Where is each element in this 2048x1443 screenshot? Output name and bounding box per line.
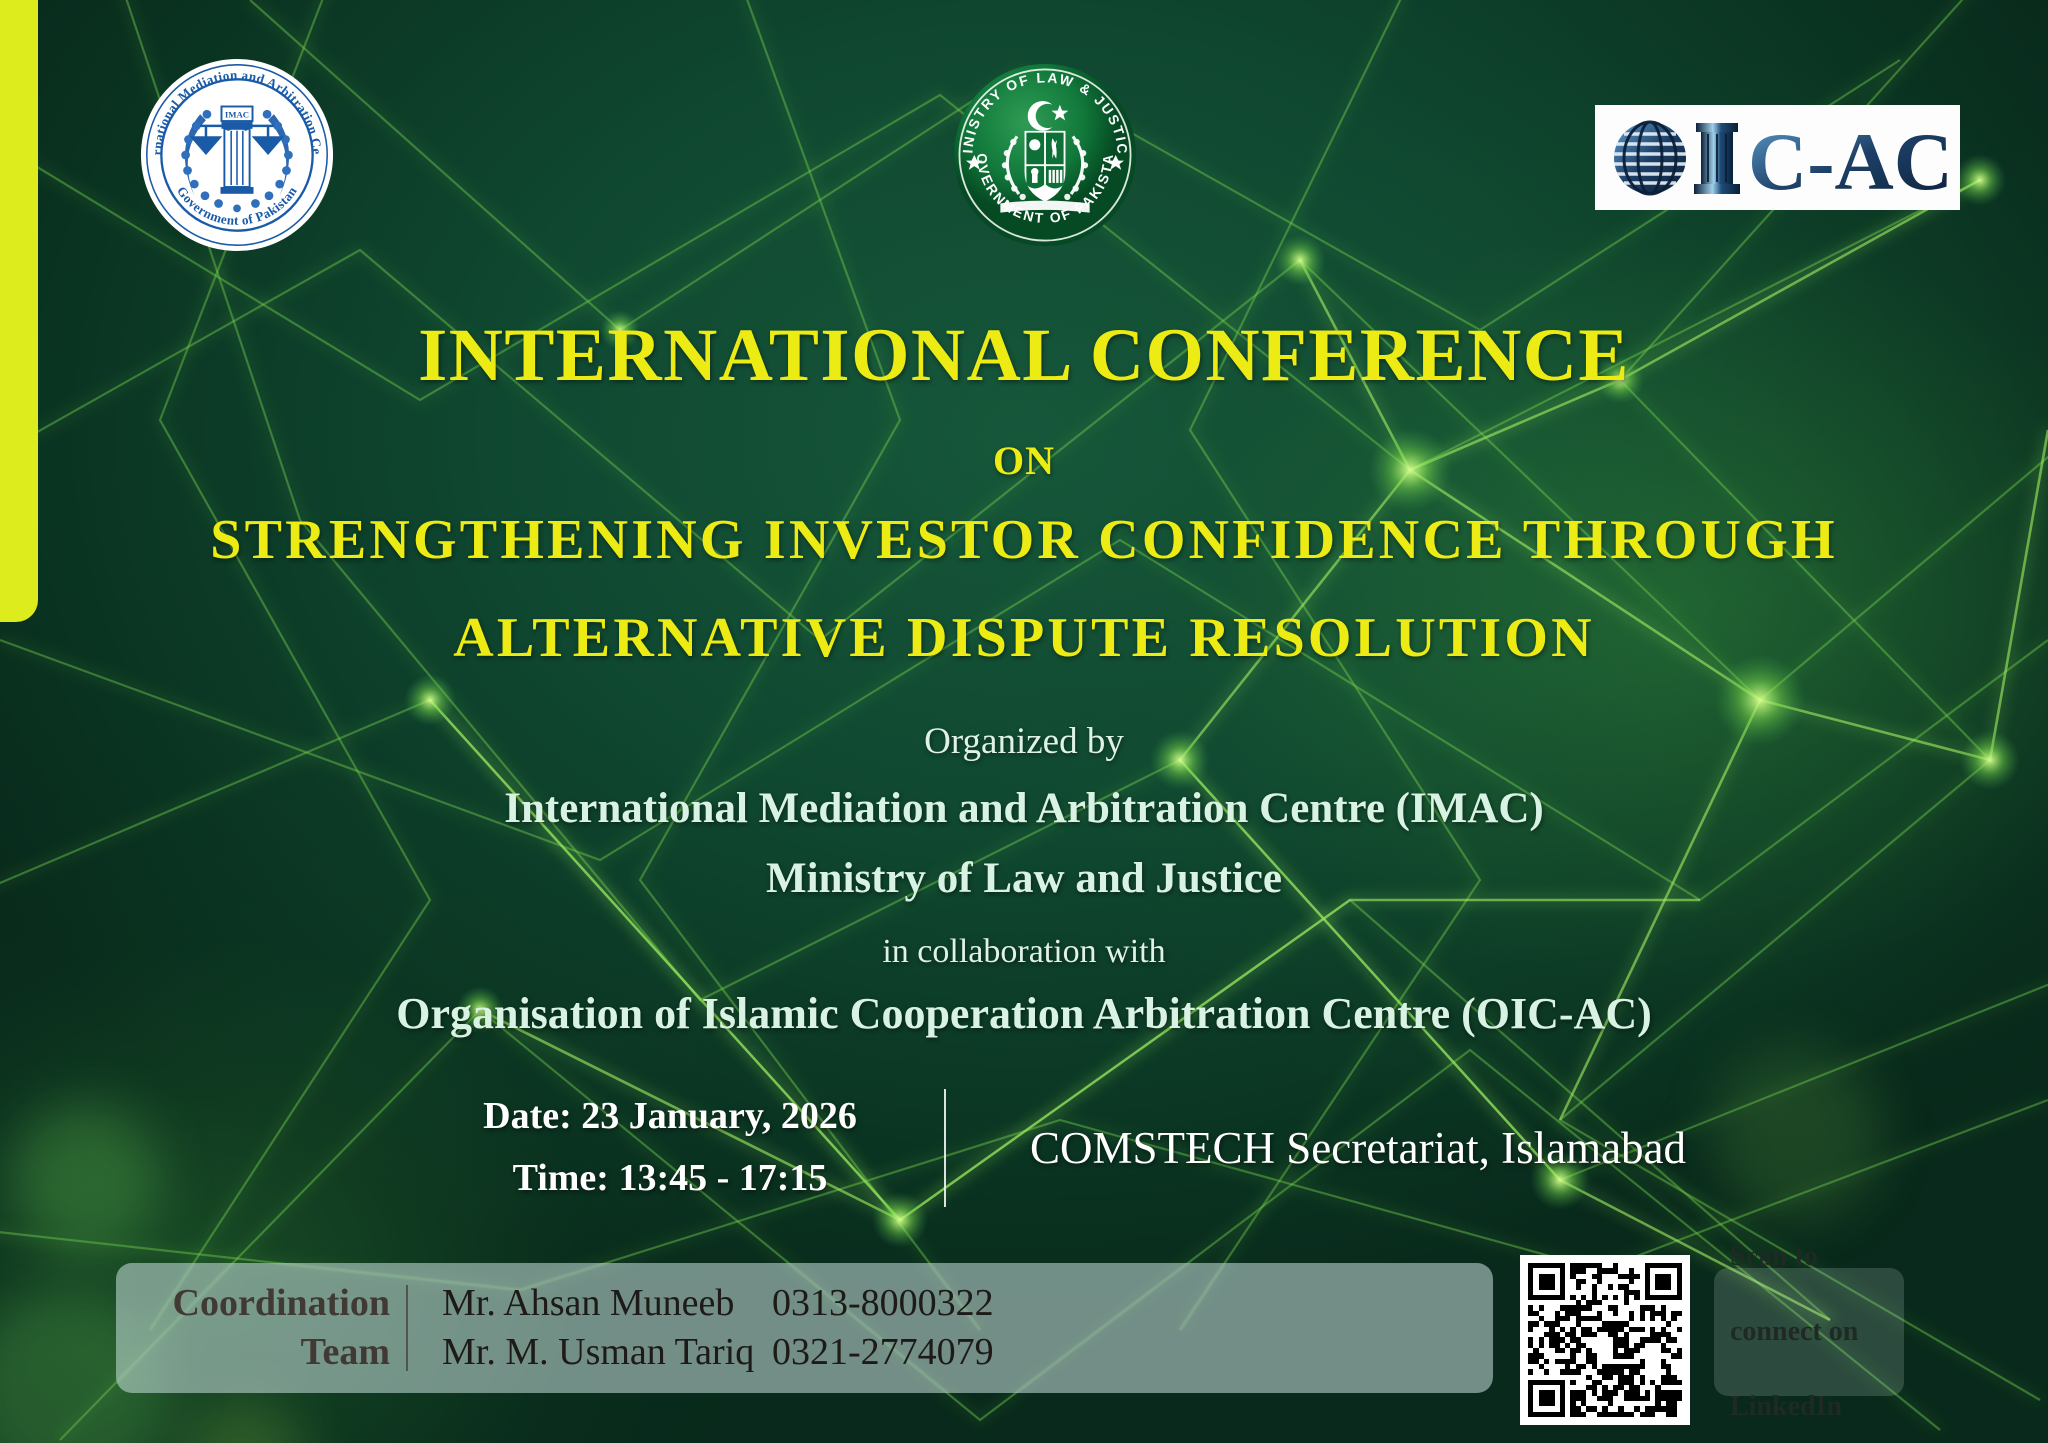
oic-ac-logo: C-AC [1595,105,1960,210]
event-details: Date: 23 January, 2026 Time: 13:45 - 17:… [420,1085,1770,1210]
event-venue: COMSTECH Secretariat, Islamabad [946,1122,1770,1174]
conference-subject-line-2: ALTERNATIVE DISPUTE RESOLUTION [0,610,2048,666]
qr-caption-panel: Scan to connect on LinkedIn [1714,1268,1904,1396]
conference-title: INTERNATIONAL CONFERENCE [0,318,2048,393]
organized-by-label: Organized by [0,723,2048,760]
event-time: Time: 13:45 - 17:15 [420,1148,920,1210]
qr-caption-line-2: connect on [1730,1313,1858,1351]
coordination-label-line-1: Coordination [116,1279,390,1328]
qr-caption-line-3: LinkedIn [1730,1388,1858,1426]
coordination-team-panel: Coordination Team Mr. Ahsan Muneeb 0313-… [116,1263,1493,1393]
collaboration-label: in collaboration with [0,935,2048,969]
contact-row: Mr. M. Usman Tariq 0321-2774079 [442,1328,994,1377]
contact-name: Mr. M. Usman Tariq [442,1328,772,1377]
qr-caption-line-1: Scan to [1730,1238,1858,1276]
contact-name: Mr. Ahsan Muneeb [442,1279,772,1328]
coordination-label-line-2: Team [116,1328,390,1377]
oicac-wordmark: C-AC [1748,116,1948,205]
organizer-oicac: Organisation of Islamic Cooperation Arbi… [0,992,2048,1036]
contact-phone[interactable]: 0313-8000322 [772,1279,994,1328]
coordination-contacts: Mr. Ahsan Muneeb 0313-8000322 Mr. M. Usm… [408,1279,994,1376]
qr-code[interactable] [1520,1255,1690,1425]
imac-center-abbr: IMAC [225,110,249,120]
conference-subject-line-1: STRENGTHENING INVESTOR CONFIDENCE THROUG… [0,512,2048,568]
ministry-of-law-and-justice-seal: MINISTRY OF LAW & JUSTICE GOVERNMENT OF … [952,62,1138,248]
contact-row: Mr. Ahsan Muneeb 0313-8000322 [442,1279,994,1328]
conference-flyer: International Mediation and Arbitration … [0,0,2048,1443]
imac-seal-logo: International Mediation and Arbitration … [140,58,334,252]
coordination-team-label: Coordination Team [116,1279,406,1376]
vertical-divider [944,1089,946,1207]
organizer-imac: International Mediation and Arbitration … [0,787,2048,830]
event-date-time: Date: 23 January, 2026 Time: 13:45 - 17:… [420,1086,920,1209]
conference-on-label: ON [0,441,2048,481]
column-icon [1694,123,1740,194]
qr-code-grid [1528,1263,1682,1417]
globe-icon [1614,122,1686,194]
event-date: Date: 23 January, 2026 [420,1086,920,1148]
organizer-ministry: Ministry of Law and Justice [0,857,2048,900]
contact-phone[interactable]: 0321-2774079 [772,1328,994,1377]
coordination-divider [406,1285,408,1371]
accent-bar-left [0,0,38,622]
